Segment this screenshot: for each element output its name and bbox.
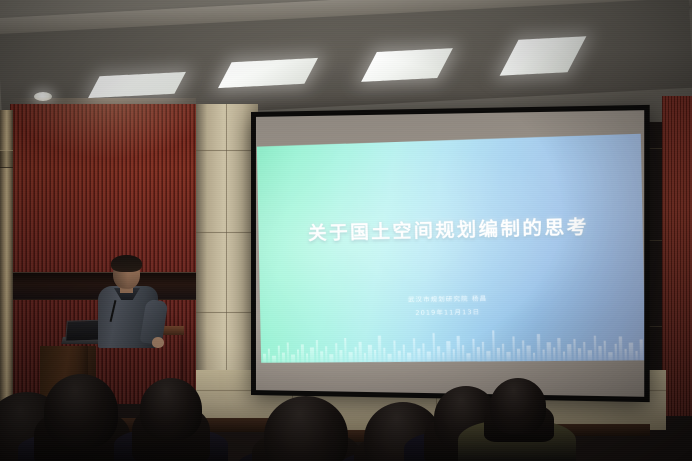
skyline-building bbox=[364, 353, 366, 362]
skyline-building bbox=[387, 354, 391, 362]
skyline-building bbox=[557, 338, 561, 361]
presenter-hair bbox=[111, 255, 142, 272]
skyline-building bbox=[615, 344, 618, 361]
skyline-building bbox=[619, 336, 623, 360]
projected-slide: 关于国土空间规划编制的思考 武汉市规划研究院 杨昌 2019年11月13日 bbox=[257, 134, 644, 363]
slide-subtitle-author: 武汉市规划研究院 杨昌 bbox=[260, 291, 644, 306]
audience-head-3 bbox=[140, 378, 202, 440]
skyline-building bbox=[297, 349, 299, 362]
skyline-building bbox=[442, 352, 444, 361]
skyline-building bbox=[472, 339, 475, 362]
slide-title: 关于国土空间规划编制的思考 bbox=[258, 211, 643, 246]
skyline-building bbox=[320, 351, 323, 362]
skyline-building bbox=[578, 348, 581, 361]
skyline-building bbox=[417, 349, 420, 362]
skyline-building bbox=[462, 345, 464, 361]
skyline-building bbox=[403, 345, 405, 362]
pilaster-capital bbox=[0, 150, 13, 168]
skyline-building bbox=[383, 348, 385, 362]
skyline-building bbox=[608, 352, 613, 360]
skyline-building bbox=[287, 343, 289, 363]
skyline-building bbox=[310, 347, 314, 362]
skyline-building bbox=[282, 353, 285, 363]
skyline-building bbox=[272, 356, 276, 363]
skyline-building bbox=[433, 333, 436, 362]
skyline-building bbox=[567, 344, 572, 361]
conference-hall-photo: 关于国土空间规划编制的思考 武汉市规划研究院 杨昌 2019年11月13日 激活… bbox=[0, 0, 692, 461]
skyline-building bbox=[263, 354, 266, 363]
skyline-building bbox=[374, 350, 376, 362]
skyline-building bbox=[486, 351, 490, 361]
skyline-building bbox=[407, 353, 411, 362]
skyline-building bbox=[268, 349, 270, 363]
skyline-building bbox=[588, 350, 593, 360]
skyline-building bbox=[583, 342, 586, 361]
skyline-building bbox=[329, 354, 333, 362]
skyline-building bbox=[598, 346, 602, 361]
skyline-building bbox=[517, 349, 520, 361]
wall-seam bbox=[196, 232, 258, 233]
mid-beige-wall-panel bbox=[196, 104, 258, 404]
skyline-building bbox=[344, 338, 347, 362]
audience-head-2 bbox=[44, 374, 118, 448]
skyline-building bbox=[466, 353, 470, 361]
skyline-building bbox=[512, 336, 515, 361]
skyline-building bbox=[339, 350, 342, 362]
skyline-building bbox=[446, 341, 451, 362]
wall-seam-vertical bbox=[226, 104, 227, 404]
skyline-building bbox=[368, 345, 372, 362]
skyline-building bbox=[629, 343, 634, 361]
projection-screen: 关于国土空间规划编制的思考 武汉市规划研究院 杨昌 2019年11月13日 激活… bbox=[251, 105, 650, 402]
projection-screen-surface: 关于国土空间规划编制的思考 武汉市规划研究院 杨昌 2019年11月13日 激活… bbox=[256, 110, 644, 397]
skyline-building bbox=[393, 341, 395, 362]
skyline-building bbox=[378, 336, 382, 362]
skyline-building bbox=[457, 336, 461, 362]
skyline-building bbox=[355, 347, 357, 362]
skyline-building bbox=[335, 343, 337, 362]
skyline-building bbox=[316, 340, 318, 362]
skyline-building bbox=[278, 346, 280, 363]
skyline-building bbox=[635, 351, 637, 360]
skyline-building bbox=[506, 352, 510, 361]
ceiling-panel-light-2 bbox=[218, 58, 318, 88]
wall-seam bbox=[196, 150, 258, 151]
skyline-building bbox=[624, 349, 626, 361]
skyline-building bbox=[497, 348, 500, 361]
audience-head-7 bbox=[490, 378, 546, 434]
far-right-wood-wall bbox=[662, 96, 692, 416]
skyline-building bbox=[453, 349, 455, 361]
skyline-building bbox=[553, 347, 555, 361]
skyline-building bbox=[398, 351, 401, 362]
skyline-building bbox=[537, 334, 541, 361]
skyline-building bbox=[291, 355, 295, 363]
skyline-building bbox=[413, 338, 416, 361]
skyline-building bbox=[325, 346, 327, 362]
skyline-building bbox=[526, 346, 531, 362]
skyline-building bbox=[349, 352, 353, 362]
skyline-building bbox=[301, 344, 304, 362]
skyline-building bbox=[306, 353, 308, 362]
skyline-building bbox=[437, 346, 440, 361]
skyline-building bbox=[563, 352, 565, 361]
skyline-building bbox=[522, 340, 525, 361]
slide-city-skyline-graphic bbox=[260, 316, 644, 363]
skyline-building bbox=[492, 330, 495, 361]
skyline-building bbox=[640, 339, 644, 360]
presenter-hand bbox=[152, 337, 164, 348]
skyline-building bbox=[594, 336, 597, 361]
wall-seam bbox=[196, 312, 258, 313]
skyline-building bbox=[542, 350, 544, 361]
skyline-building bbox=[422, 343, 424, 361]
skyline-building bbox=[604, 341, 607, 361]
skyline-building bbox=[547, 342, 552, 361]
skyline-building bbox=[427, 352, 431, 362]
skyline-building bbox=[359, 342, 362, 362]
skyline-building bbox=[573, 339, 576, 361]
skyline-building bbox=[482, 342, 485, 362]
skyline-building bbox=[533, 353, 535, 361]
skyline-building bbox=[477, 347, 480, 361]
skyline-building bbox=[502, 344, 504, 362]
